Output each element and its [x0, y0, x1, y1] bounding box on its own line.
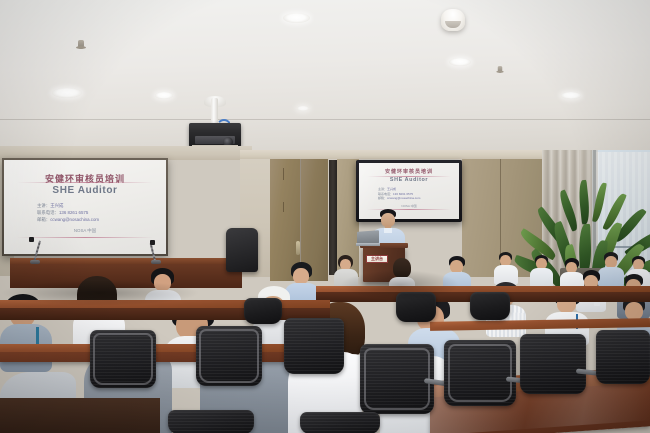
office-chair[interactable] — [396, 292, 436, 322]
recessed-downlight — [561, 92, 581, 99]
executive-chair[interactable] — [226, 228, 258, 272]
slide-phone-label: 联系电话： — [37, 210, 59, 215]
slide-email-value: ccwang@nosachina.com — [50, 217, 99, 222]
recessed-downlight — [297, 106, 309, 111]
ceiling-dome-speaker — [441, 9, 465, 31]
audience-member — [334, 255, 358, 287]
wall-back-band — [240, 150, 542, 159]
office-chair[interactable] — [284, 318, 344, 374]
presenter-collar — [384, 228, 392, 233]
office-chair[interactable] — [520, 334, 586, 394]
laptop-base — [356, 243, 380, 246]
ceiling-seam — [0, 119, 650, 120]
floor — [0, 398, 160, 433]
office-chair[interactable] — [470, 292, 510, 320]
chair-rim — [199, 329, 259, 383]
display-email-label: 邮箱： — [378, 196, 387, 200]
recessed-downlight — [155, 92, 173, 99]
display-phone-value: 136 8261 6575 — [393, 192, 413, 196]
podium-sign-text: 主讲台 — [371, 256, 383, 262]
slide-presenter-label: 主讲： — [37, 203, 50, 208]
office-chair[interactable] — [168, 410, 254, 433]
office-chair[interactable] — [596, 330, 650, 384]
podium-sign: 主讲台 — [366, 255, 388, 263]
front-table — [10, 262, 242, 288]
office-chair[interactable] — [244, 298, 282, 324]
door-handle[interactable] — [296, 241, 300, 255]
panel-seam — [283, 202, 284, 212]
recessed-downlight — [449, 58, 471, 66]
projector — [189, 123, 241, 147]
slide-email-label: 邮箱： — [37, 217, 50, 222]
slide-presenter-name: 王兴成 — [50, 203, 63, 208]
audience-member — [443, 256, 471, 290]
slide-phone-value: 136 8261 6575 — [59, 210, 88, 215]
ceiling-sprinkler-head — [78, 40, 84, 49]
ceiling-sprinkler-head — [498, 66, 503, 73]
recessed-downlight — [52, 88, 82, 98]
audience-member — [530, 255, 553, 285]
desk-row-1-top — [0, 344, 330, 352]
chair-rim — [93, 333, 153, 385]
panel-seam — [283, 168, 284, 180]
gooseneck-microphone[interactable] — [26, 236, 42, 264]
display-title-en: SHE Auditor — [385, 177, 433, 183]
office-chair[interactable] — [300, 412, 380, 433]
gooseneck-microphone[interactable] — [148, 240, 162, 264]
display-presenter-label: 主讲： — [378, 187, 387, 191]
recessed-downlight — [283, 13, 310, 23]
meeting-room-photo: 安健环审核员培训 SHE Auditor 主讲：王兴成 联系电话：136 826… — [0, 0, 650, 433]
ceiling — [0, 0, 650, 152]
display-email-value: ccwang@nosachina.com — [387, 196, 420, 200]
display-presenter-name: 王兴成 — [387, 187, 396, 191]
chair-rim — [448, 344, 512, 402]
front-table-top — [10, 258, 242, 264]
audience-member — [494, 252, 518, 282]
slide-title-en: SHE Auditor — [45, 185, 125, 196]
display-footer: NOSA 中国 — [401, 204, 416, 208]
chair-rim — [364, 348, 430, 410]
slide-footer: NOSA 中国 — [74, 228, 96, 234]
projector-pole — [211, 98, 218, 124]
display-phone-label: 联系电话： — [378, 192, 393, 196]
